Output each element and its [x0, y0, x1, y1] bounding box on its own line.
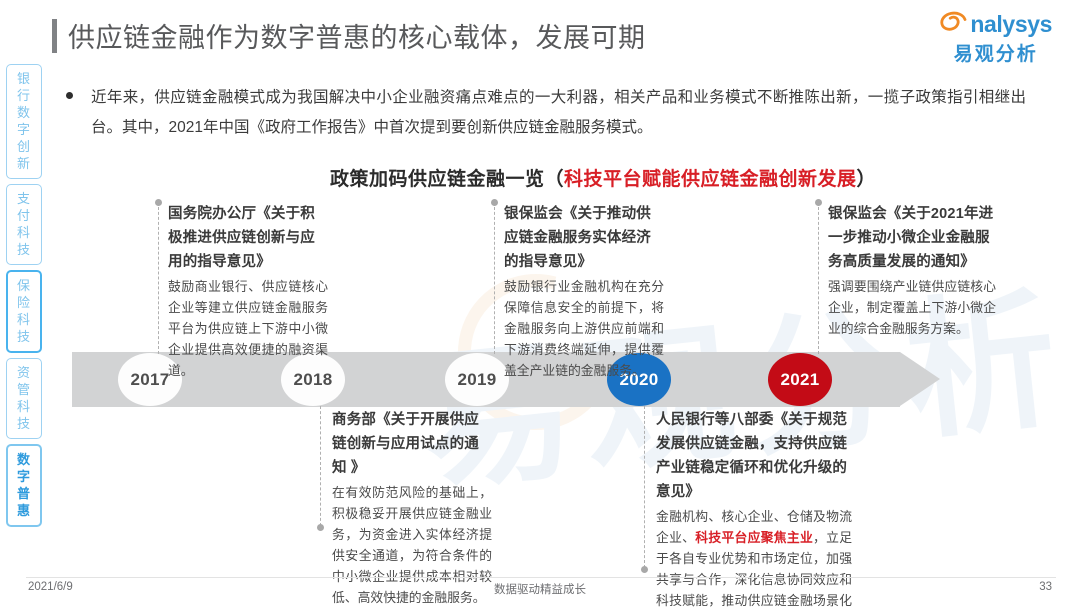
- tab-char: 新: [7, 155, 41, 172]
- tab-char: 数: [7, 104, 41, 121]
- brand-logo: nalysys 易观分析: [939, 10, 1052, 66]
- policy-card-body: 强调要围绕产业链供应链核心企业，制定覆盖上下游小微企业的综合金融服务方案。: [828, 276, 996, 339]
- sidebar-item-payment-tech[interactable]: 支 付 科 技: [6, 184, 42, 265]
- connector-dot-2019: [491, 199, 498, 206]
- tab-char: 字: [8, 468, 40, 485]
- policy-card-title: 银保监会《关于2021年进一步推动小微企业金融服务高质量发展的通知》: [828, 202, 996, 274]
- policy-card-title: 国务院办公厅《关于积极推进供应链创新与应用的指导意见》: [168, 202, 328, 274]
- tab-char: 支: [7, 190, 41, 207]
- section-heading-tail: ）: [857, 169, 877, 190]
- analysys-swirl-icon: [939, 11, 969, 37]
- sidebar-item-bank-digital-innovation[interactable]: 银 行 数 字 创 新: [6, 64, 42, 179]
- footer-page-number: 33: [1039, 581, 1052, 593]
- bullet-paragraph: 近年来，供应链金融模式成为我国解决中小企业融资痛点难点的一大利器，相关产品和业务…: [66, 83, 1026, 143]
- connector-2017: [158, 202, 159, 354]
- policy-card-2020: 人民银行等八部委《关于规范发展供应链金融，支持供应链产业链稳定循环和优化升级的意…: [656, 408, 852, 608]
- title-text: 供应链金融作为数字普惠的核心载体，发展可期: [68, 16, 646, 55]
- connector-2019: [494, 202, 495, 354]
- policy-body-emphasis: 科技平台应聚焦主业: [695, 530, 813, 545]
- tab-char: 银: [7, 70, 41, 87]
- tab-char: 创: [7, 138, 41, 155]
- connector-dot-2018: [317, 524, 324, 531]
- bullet-dot-icon: [66, 92, 73, 99]
- section-heading-main: 政策加码供应链金融一览（: [330, 169, 564, 190]
- policy-card-2019: 银保监会《关于推动供应链金融服务实体经济的指导意见》 鼓励银行业金融机构在充分保…: [504, 202, 664, 381]
- policy-card-2021: 银保监会《关于2021年进一步推动小微企业金融服务高质量发展的通知》 强调要围绕…: [828, 202, 996, 339]
- connector-2018: [320, 406, 321, 526]
- tab-char: 资: [7, 364, 41, 381]
- sidebar-item-asset-management-tech[interactable]: 资 管 科 技: [6, 358, 42, 439]
- tab-char: 保: [8, 277, 40, 294]
- policy-card-title: 商务部《关于开展供应链创新与应用试点的通知 》: [332, 408, 492, 480]
- policy-card-title: 人民银行等八部委《关于规范发展供应链金融，支持供应链产业链稳定循环和优化升级的意…: [656, 408, 852, 504]
- logo-wordmark-cn: 易观分析: [939, 39, 1052, 66]
- policy-card-2017: 国务院办公厅《关于积极推进供应链创新与应用的指导意见》 鼓励商业银行、供应链核心…: [168, 202, 328, 381]
- page-title: 供应链金融作为数字普惠的核心载体，发展可期: [52, 16, 646, 55]
- tab-char: 科: [8, 311, 40, 328]
- section-heading: 政策加码供应链金融一览（科技平台赋能供应链金融创新发展）: [330, 164, 876, 191]
- policy-card-2018: 商务部《关于开展供应链创新与应用试点的通知 》 在有效防范风险的基础上，积极稳妥…: [332, 408, 492, 608]
- tab-char: 技: [7, 415, 41, 432]
- sidebar-item-digital-inclusive-finance[interactable]: 数 字 普 惠: [6, 444, 42, 527]
- tab-char: 普: [8, 485, 40, 502]
- tab-char: 技: [8, 328, 40, 345]
- connector-dot-2017: [155, 199, 162, 206]
- connector-2021: [818, 202, 819, 354]
- section-heading-emphasis: 科技平台赋能供应链金融创新发展: [564, 169, 857, 190]
- bullet-text: 近年来，供应链金融模式成为我国解决中小企业融资痛点难点的一大利器，相关产品和业务…: [91, 83, 1026, 143]
- sidebar: 银 行 数 字 创 新 支 付 科 技 保 险 科 技 资 管 科 技 数 字: [6, 64, 42, 532]
- tab-char: 技: [7, 241, 41, 258]
- slide-canvas: 易观分析 供应链金融作为数字普惠的核心载体，发展可期 nalysys 易观分析 …: [0, 0, 1080, 608]
- tab-char: 数: [8, 451, 40, 468]
- tab-char: 管: [7, 381, 41, 398]
- policy-card-body: 鼓励银行业金融机构在充分保障信息安全的前提下，将金融服务向上游供应前端和下游消费…: [504, 276, 664, 381]
- connector-dot-2021: [815, 199, 822, 206]
- timeline-year-2019[interactable]: 2019: [445, 353, 509, 406]
- tab-char: 惠: [8, 502, 40, 519]
- footer-tagline: 数据驱动精益成长: [0, 581, 1080, 597]
- policy-card-body: 鼓励商业银行、供应链核心企业等建立供应链金融服务平台为供应链上下游中小微企业提供…: [168, 276, 328, 381]
- footer-divider: [26, 577, 1056, 578]
- connector-2020: [644, 406, 645, 568]
- tab-char: 险: [8, 294, 40, 311]
- tab-char: 科: [7, 224, 41, 241]
- logo-wordmark: nalysys: [970, 13, 1052, 36]
- tab-char: 行: [7, 87, 41, 104]
- connector-dot-2020: [641, 566, 648, 573]
- tab-char: 字: [7, 121, 41, 138]
- policy-card-title: 银保监会《关于推动供应链金融服务实体经济的指导意见》: [504, 202, 664, 274]
- tab-char: 付: [7, 207, 41, 224]
- footer: 2021/6/9 数据驱动精益成长 33: [0, 581, 1080, 601]
- sidebar-item-insurance-tech[interactable]: 保 险 科 技: [6, 270, 42, 353]
- tab-char: 科: [7, 398, 41, 415]
- title-accent-bar: [52, 19, 57, 53]
- timeline-year-2021[interactable]: 2021: [768, 353, 832, 406]
- timeline-arrow-icon: [900, 352, 940, 406]
